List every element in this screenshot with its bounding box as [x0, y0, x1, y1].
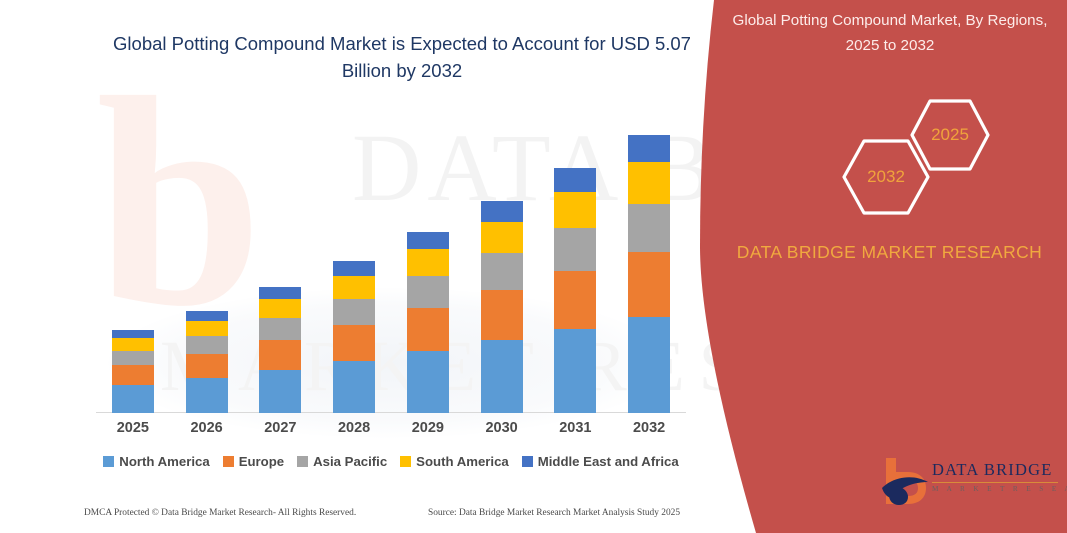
bar-segment-2026-asia-pacific — [186, 336, 228, 354]
bar-segment-2025-north-america — [112, 385, 154, 414]
bar-segment-2028-middle-east-and-africa — [333, 261, 375, 276]
x-axis-label-2027: 2027 — [240, 420, 320, 436]
bar-segment-2032-south-america — [628, 162, 670, 204]
bar-segment-2027-north-america — [259, 370, 301, 413]
bar-2026[interactable] — [186, 311, 228, 413]
bar-segment-2026-middle-east-and-africa — [186, 311, 228, 321]
logo-mark-icon — [880, 452, 932, 508]
bar-segment-2027-south-america — [259, 299, 301, 318]
chart-x-axis-labels: 20252026202720282029203020312032 — [96, 420, 686, 446]
bar-segment-2031-europe — [554, 271, 596, 329]
bar-segment-2030-europe — [481, 290, 523, 340]
legend-swatch-icon — [103, 456, 114, 467]
bar-2032[interactable] — [628, 135, 670, 413]
footer-source: Source: Data Bridge Market Research Mark… — [428, 508, 680, 518]
logo-tagline: M A R K E T R E S E A R C H — [932, 485, 1067, 493]
bar-segment-2030-north-america — [481, 340, 523, 413]
legend-swatch-icon — [522, 456, 533, 467]
legend-label: South America — [416, 454, 509, 469]
legend-label: Middle East and Africa — [538, 454, 679, 469]
logo-divider — [932, 482, 1058, 483]
legend-label: Asia Pacific — [313, 454, 387, 469]
bar-segment-2026-europe — [186, 354, 228, 378]
bar-2030[interactable] — [481, 201, 523, 413]
bar-2029[interactable] — [407, 232, 449, 413]
data-bridge-logo: DATA BRIDGE M A R K E T R E S E A R C H — [880, 452, 1060, 514]
footer: DMCA Protected © Data Bridge Market Rese… — [0, 505, 700, 527]
bar-segment-2029-south-america — [407, 249, 449, 276]
stacked-bar-chart — [96, 120, 686, 413]
bar-segment-2026-south-america — [186, 321, 228, 336]
x-axis-label-2031: 2031 — [535, 420, 615, 436]
x-axis-label-2028: 2028 — [314, 420, 394, 436]
bar-segment-2028-europe — [333, 325, 375, 361]
bar-segment-2028-north-america — [333, 361, 375, 413]
bar-2031[interactable] — [554, 168, 596, 413]
infographic-canvas: b DATA BRIDGE MARKET RESEARCH Global Pot… — [0, 0, 1067, 533]
legend-item-north-america[interactable]: North America — [103, 454, 209, 469]
legend-item-asia-pacific[interactable]: Asia Pacific — [297, 454, 387, 469]
bar-segment-2031-asia-pacific — [554, 228, 596, 271]
x-axis-label-2030: 2030 — [462, 420, 542, 436]
x-axis-label-2025: 2025 — [93, 420, 173, 436]
red-panel-content: Global Potting Compound Market, By Regio… — [712, 0, 1067, 533]
bar-segment-2032-middle-east-and-africa — [628, 135, 670, 162]
bar-segment-2032-north-america — [628, 317, 670, 413]
legend-swatch-icon — [400, 456, 411, 467]
footer-copyright: DMCA Protected © Data Bridge Market Rese… — [84, 508, 356, 518]
x-axis-label-2032: 2032 — [609, 420, 689, 436]
bar-segment-2029-north-america — [407, 351, 449, 414]
bar-segment-2030-asia-pacific — [481, 253, 523, 290]
hexagon-2025: 2025 — [908, 98, 992, 172]
bar-2028[interactable] — [333, 261, 375, 413]
legend-item-south-america[interactable]: South America — [400, 454, 509, 469]
legend-swatch-icon — [297, 456, 308, 467]
bar-segment-2029-europe — [407, 308, 449, 351]
logo-text-group: DATA BRIDGE M A R K E T R E S E A R C H — [932, 460, 1067, 493]
logo-name: DATA BRIDGE — [932, 460, 1067, 480]
bar-segment-2029-asia-pacific — [407, 276, 449, 307]
bar-2027[interactable] — [259, 287, 301, 413]
bar-segment-2031-middle-east-and-africa — [554, 168, 596, 192]
bar-segment-2028-south-america — [333, 276, 375, 299]
bar-segment-2025-asia-pacific — [112, 351, 154, 365]
bar-segment-2025-europe — [112, 365, 154, 385]
bar-segment-2027-asia-pacific — [259, 318, 301, 340]
chart-legend: North AmericaEuropeAsia PacificSouth Ame… — [96, 454, 686, 469]
bar-2025[interactable] — [112, 330, 154, 413]
bar-segment-2030-middle-east-and-africa — [481, 201, 523, 221]
bar-segment-2027-middle-east-and-africa — [259, 287, 301, 299]
hexagon-group: 2032 2025 — [712, 95, 1067, 215]
bar-segment-2029-middle-east-and-africa — [407, 232, 449, 250]
legend-label: North America — [119, 454, 209, 469]
bar-segment-2026-north-america — [186, 378, 228, 413]
legend-swatch-icon — [223, 456, 234, 467]
bar-segment-2032-europe — [628, 252, 670, 317]
bar-segment-2030-south-america — [481, 222, 523, 254]
bar-segment-2031-south-america — [554, 192, 596, 229]
bar-segment-2032-asia-pacific — [628, 204, 670, 252]
bar-segment-2027-europe — [259, 340, 301, 370]
legend-item-middle-east-and-africa[interactable]: Middle East and Africa — [522, 454, 679, 469]
bar-segment-2025-middle-east-and-africa — [112, 330, 154, 338]
chart-title: Global Potting Compound Market is Expect… — [92, 30, 712, 84]
panel-brand-text: DATA BRIDGE MARKET RESEARCH — [722, 238, 1057, 266]
bar-segment-2028-asia-pacific — [333, 299, 375, 325]
bar-segment-2031-north-america — [554, 329, 596, 413]
hexagon-2025-label: 2025 — [908, 98, 992, 172]
bar-segment-2025-south-america — [112, 338, 154, 351]
panel-title: Global Potting Compound Market, By Regio… — [730, 8, 1050, 58]
legend-label: Europe — [239, 454, 284, 469]
legend-item-europe[interactable]: Europe — [223, 454, 284, 469]
x-axis-label-2026: 2026 — [167, 420, 247, 436]
x-axis-label-2029: 2029 — [388, 420, 468, 436]
